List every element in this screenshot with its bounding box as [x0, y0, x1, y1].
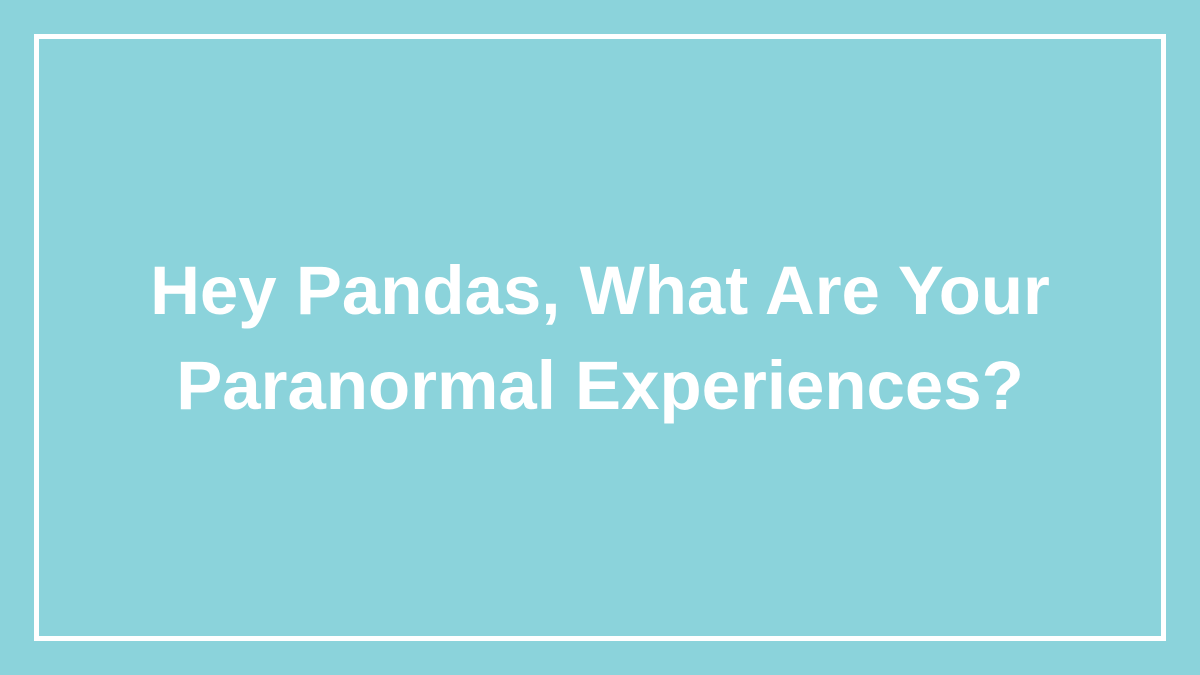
headline-line-2: Paranormal Experiences?	[120, 338, 1080, 433]
poster-canvas: Hey Pandas, What Are Your Paranormal Exp…	[0, 0, 1200, 675]
headline-block: Hey Pandas, What Are Your Paranormal Exp…	[0, 0, 1200, 675]
headline-line-1: Hey Pandas, What Are Your	[120, 243, 1080, 338]
